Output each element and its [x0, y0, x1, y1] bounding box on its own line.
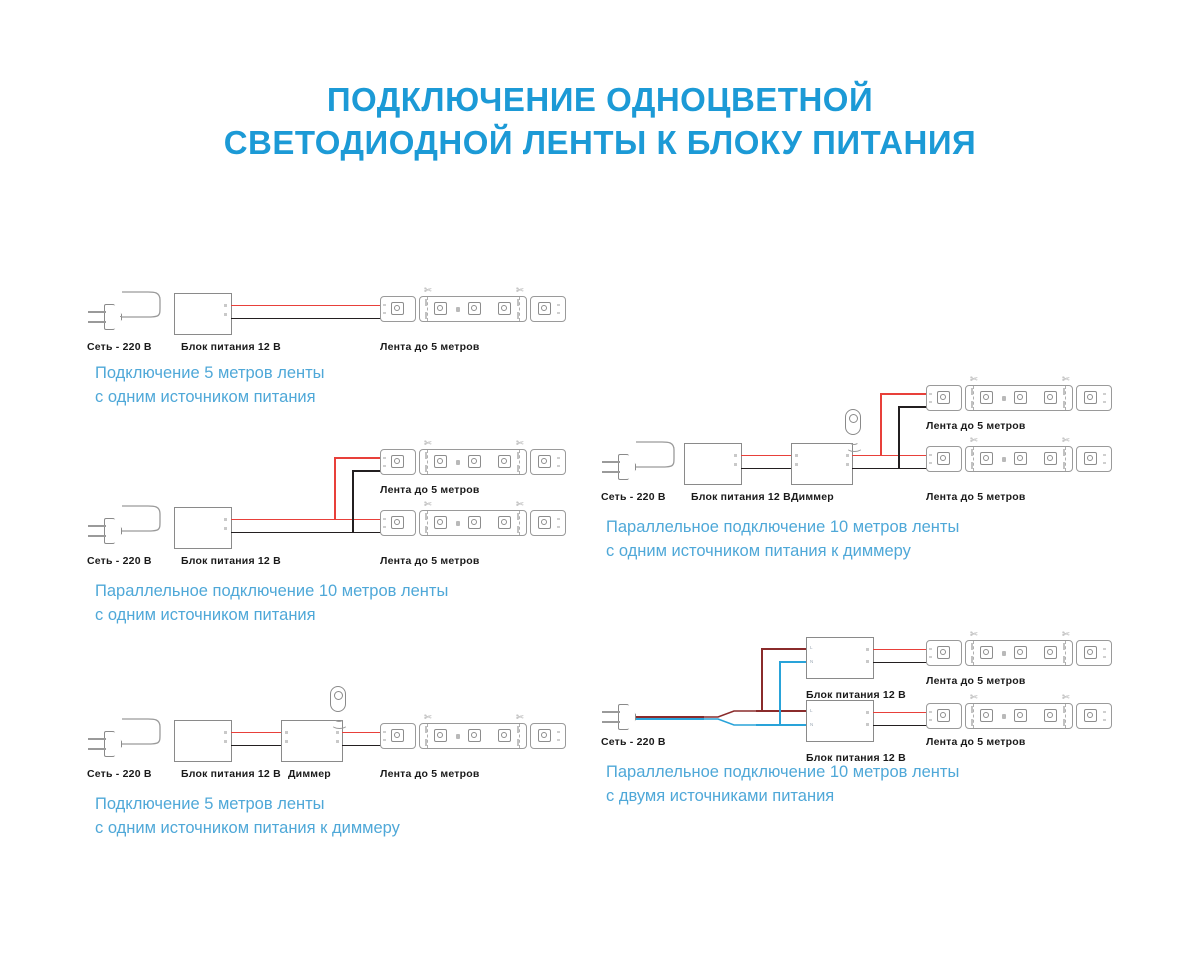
plug-pin-2	[602, 721, 620, 723]
caption-line1: Параллельное подключение 10 метров ленты	[606, 760, 959, 784]
psu-to-dimmer-negative	[741, 468, 791, 470]
led-strip	[380, 510, 566, 536]
psu-to-dimmer-positive	[231, 732, 281, 734]
mains-cable	[120, 504, 180, 549]
scissors-icon: ✄	[424, 286, 432, 295]
psu-terminal-label-n: N	[810, 659, 813, 664]
strip-solder-pad-neg	[557, 465, 560, 467]
strip-led	[1044, 452, 1057, 465]
strip-solder-pad-pos	[1103, 648, 1106, 650]
strip-solder-pad-neg	[557, 312, 560, 314]
branch-wire-positive-top	[880, 393, 932, 395]
mains-wire-h	[120, 316, 122, 317]
scissors-icon: ✄	[970, 630, 978, 639]
strip-solder-pad-pos	[929, 711, 932, 713]
output-wire-positive	[231, 519, 386, 521]
strip-led	[980, 452, 993, 465]
psu-output-pad-neg	[866, 660, 869, 663]
strip-led	[937, 452, 950, 465]
mains-cable	[120, 717, 180, 762]
strip-solder-pad-neg	[929, 462, 932, 464]
plug-pin-2	[88, 535, 106, 537]
label-mains: Сеть - 220 В	[87, 555, 152, 567]
strip-cut-line-1	[427, 450, 428, 474]
strip-solder-pad-pos	[383, 518, 386, 520]
output-wire-positive	[231, 305, 386, 307]
strip-solder-pad-neg	[383, 526, 386, 528]
strip-solder-pad-pos	[557, 731, 560, 733]
strip-led	[434, 302, 447, 315]
psu-terminal-label-n: N	[810, 722, 813, 727]
psu-to-dimmer-positive	[741, 455, 791, 457]
plug-pin-2	[602, 471, 620, 473]
branch-wire-negative	[352, 470, 354, 533]
strip-solder-pad-pos	[929, 454, 932, 456]
label-strip: Лента до 5 метров	[380, 341, 480, 353]
scissors-icon: ✄	[516, 500, 524, 509]
strip-led	[1084, 391, 1097, 404]
mains-cable	[120, 290, 180, 335]
psu-to-dimmer-negative	[231, 745, 281, 747]
scissors-icon: ✄	[424, 439, 432, 448]
psu-terminal-label-l: L	[810, 645, 813, 650]
diagram-caption: Подключение 5 метров ленты с одним источ…	[95, 361, 325, 409]
strip-led	[980, 646, 993, 659]
strip-led	[468, 455, 481, 468]
diagram-caption: Подключение 5 метров ленты с одним источ…	[95, 792, 400, 840]
led-strip	[926, 385, 1112, 411]
led-strip	[926, 703, 1112, 729]
strip-resistor	[1002, 651, 1006, 656]
strip-solder-pad-neg	[557, 739, 560, 741]
psu-terminal-pad-pos	[224, 731, 227, 734]
scissors-icon: ✄	[1062, 436, 1070, 445]
strip-cut-line-2	[519, 297, 520, 321]
plug-pin-2	[88, 321, 106, 323]
strip-led	[391, 516, 404, 529]
led-strip	[380, 296, 566, 322]
plug-pin-1	[88, 525, 106, 527]
psu-terminal-pad-pos	[224, 518, 227, 521]
strip-led	[1014, 391, 1027, 404]
strip-led	[538, 729, 551, 742]
strip-solder-pad-pos	[557, 457, 560, 459]
caption-line2: с одним источником питания к диммеру	[95, 816, 400, 840]
strip-solder-pad-pos	[557, 518, 560, 520]
dimmer-out-pad-pos	[846, 454, 849, 457]
strip-led	[391, 302, 404, 315]
psu-terminal-pad-neg	[224, 740, 227, 743]
output-wire-negative	[231, 318, 386, 320]
strip-led	[1084, 452, 1097, 465]
scissors-icon: ✄	[516, 439, 524, 448]
psu-bottom-output-negative	[873, 725, 931, 727]
branch-wire-positive	[334, 457, 336, 519]
strip-solder-pad-neg	[1103, 401, 1106, 403]
strip-led	[468, 516, 481, 529]
strip-solder-pad-pos	[1103, 454, 1106, 456]
label-power-supply: Блок питания 12 В	[691, 491, 791, 503]
label-strip-bottom: Лента до 5 метров	[926, 736, 1026, 748]
strip-solder-pad-neg	[929, 656, 932, 658]
label-mains: Сеть - 220 В	[601, 736, 666, 748]
strip-cut-line-1	[427, 297, 428, 321]
strip-led	[937, 646, 950, 659]
psu-top-output-positive	[873, 649, 931, 651]
strip-resistor	[1002, 714, 1006, 719]
scissors-icon: ✄	[970, 436, 978, 445]
mains-live-riser	[761, 648, 763, 711]
remote-signal-wave-2	[846, 442, 863, 452]
strip-led	[538, 516, 551, 529]
led-strip	[926, 446, 1112, 472]
label-strip-bottom: Лента до 5 метров	[380, 555, 480, 567]
psu-terminal-pad-pos	[734, 454, 737, 457]
scissors-icon: ✄	[1062, 693, 1070, 702]
mains-split-fork	[700, 705, 760, 735]
psu-output-pad-pos	[866, 711, 869, 714]
strip-led	[391, 729, 404, 742]
strip-led	[434, 516, 447, 529]
dimmer-out-pad-neg	[846, 463, 849, 466]
dimmer-out-pad-pos	[336, 731, 339, 734]
diagram-caption: Параллельное подключение 10 метров ленты…	[95, 579, 448, 627]
strip-cut-line-2	[1065, 641, 1066, 665]
strip-led	[1014, 452, 1027, 465]
strip-solder-pad-neg	[383, 465, 386, 467]
psu-top-output-negative	[873, 662, 931, 664]
strip-resistor	[456, 307, 460, 312]
dimmer-to-strip-positive	[852, 455, 930, 457]
power-supply-box-bottom	[806, 700, 874, 742]
psu-output-pad-pos	[866, 648, 869, 651]
mains-neutral-riser	[779, 661, 781, 725]
strip-solder-pad-neg	[1103, 462, 1106, 464]
strip-led	[498, 302, 511, 315]
strip-led	[434, 455, 447, 468]
strip-solder-pad-pos	[557, 304, 560, 306]
strip-cut-line-2	[1065, 386, 1066, 410]
strip-solder-pad-neg	[383, 739, 386, 741]
strip-solder-pad-neg	[929, 401, 932, 403]
caption-line1: Параллельное подключение 10 метров ленты	[95, 579, 448, 603]
strip-led	[1044, 646, 1057, 659]
strip-led	[538, 302, 551, 315]
output-wire-negative	[231, 532, 386, 534]
led-strip	[926, 640, 1112, 666]
strip-cut-line-2	[1065, 447, 1066, 471]
strip-solder-pad-pos	[383, 457, 386, 459]
strip-solder-pad-pos	[1103, 393, 1106, 395]
branch-wire-positive-top	[334, 457, 386, 459]
strip-led	[1084, 646, 1097, 659]
strip-resistor	[456, 521, 460, 526]
strip-led	[498, 455, 511, 468]
strip-solder-pad-neg	[929, 719, 932, 721]
diagram-caption: Параллельное подключение 10 метров ленты…	[606, 515, 959, 563]
strip-led	[468, 729, 481, 742]
psu-output-pad-neg	[866, 723, 869, 726]
psu-terminal-label-l: L	[810, 708, 813, 713]
strip-led	[498, 729, 511, 742]
strip-led	[980, 391, 993, 404]
remote-button	[849, 414, 858, 423]
strip-cut-line-1	[973, 704, 974, 728]
caption-line2: с одним источником питания	[95, 603, 448, 627]
strip-led	[1044, 391, 1057, 404]
label-mains: Сеть - 220 В	[87, 768, 152, 780]
plug-body	[618, 704, 636, 730]
label-strip: Лента до 5 метров	[380, 768, 480, 780]
strip-led	[538, 455, 551, 468]
plug-pin-1	[602, 461, 620, 463]
branch-wire-positive	[880, 393, 882, 455]
strip-led	[391, 455, 404, 468]
remote-signal-wave-2	[331, 719, 348, 729]
dimmer-in-pad-pos	[285, 731, 288, 734]
strip-led	[434, 729, 447, 742]
remote-button	[334, 691, 343, 700]
label-power-supply: Блок питания 12 В	[181, 341, 281, 353]
strip-solder-pad-neg	[1103, 719, 1106, 721]
strip-resistor	[1002, 457, 1006, 462]
psu-terminal-pad-neg	[224, 313, 227, 316]
label-strip-top: Лента до 5 метров	[380, 484, 480, 496]
label-strip-top: Лента до 5 метров	[926, 420, 1026, 432]
psu-bottom-output-positive	[873, 712, 931, 714]
strip-led	[468, 302, 481, 315]
scissors-icon: ✄	[516, 713, 524, 722]
remote-control-icon	[327, 686, 349, 730]
remote-control-icon	[842, 409, 864, 453]
plug-pin-1	[88, 311, 106, 313]
strip-solder-pad-neg	[383, 312, 386, 314]
psu-terminal-pad-neg	[224, 527, 227, 530]
strip-led	[1044, 709, 1057, 722]
strip-led	[937, 709, 950, 722]
mains-wire-neutral	[636, 718, 704, 720]
scissors-icon: ✄	[1062, 630, 1070, 639]
branch-wire-negative	[898, 406, 900, 469]
psu-terminal-pad-neg	[734, 463, 737, 466]
caption-line2: с одним источником питания	[95, 385, 325, 409]
caption-line1: Подключение 5 метров ленты	[95, 792, 400, 816]
label-power-supply: Блок питания 12 В	[181, 768, 281, 780]
dimmer-out-pad-neg	[336, 740, 339, 743]
strip-led	[1014, 709, 1027, 722]
strip-led	[1014, 646, 1027, 659]
dimmer-in-pad-neg	[795, 463, 798, 466]
caption-line2: с двумя источниками питания	[606, 784, 959, 808]
strip-solder-pad-neg	[557, 526, 560, 528]
label-mains: Сеть - 220 В	[87, 341, 152, 353]
diagram-caption: Параллельное подключение 10 метров ленты…	[606, 760, 959, 808]
label-strip-top: Лента до 5 метров	[926, 675, 1026, 687]
plug-pin-1	[88, 738, 106, 740]
plug-pin-2	[88, 748, 106, 750]
strip-cut-line-1	[427, 511, 428, 535]
strip-cut-line-2	[519, 450, 520, 474]
strip-solder-pad-pos	[929, 393, 932, 395]
label-strip-bottom: Лента до 5 метров	[926, 491, 1026, 503]
strip-solder-pad-pos	[929, 648, 932, 650]
dimmer-in-pad-pos	[795, 454, 798, 457]
scissors-icon: ✄	[424, 713, 432, 722]
label-mains: Сеть - 220 В	[601, 491, 666, 503]
strip-led	[980, 709, 993, 722]
strip-cut-line-1	[973, 641, 974, 665]
strip-cut-line-1	[973, 447, 974, 471]
led-strip	[380, 449, 566, 475]
strip-led	[937, 391, 950, 404]
label-power-supply: Блок питания 12 В	[181, 555, 281, 567]
scissors-icon: ✄	[424, 500, 432, 509]
caption-line2: с одним источником питания к диммеру	[606, 539, 959, 563]
dimmer-in-pad-neg	[285, 740, 288, 743]
strip-solder-pad-pos	[383, 731, 386, 733]
label-dimmer: Диммер	[288, 768, 331, 780]
strip-led	[498, 516, 511, 529]
scissors-icon: ✄	[516, 286, 524, 295]
plug-pin-1	[602, 711, 620, 713]
psu-terminal-pad-pos	[224, 304, 227, 307]
strip-cut-line-1	[973, 386, 974, 410]
strip-led	[1084, 709, 1097, 722]
diagram-parallel-10m-two-psu: L N ✄ ✄ Лента до 5 метров Блок питания 1…	[0, 0, 1200, 250]
caption-line1: Подключение 5 метров ленты	[95, 361, 325, 385]
dimmer-to-strip-negative	[852, 468, 930, 470]
strip-cut-line-2	[519, 511, 520, 535]
scissors-icon: ✄	[970, 693, 978, 702]
scissors-icon: ✄	[970, 375, 978, 384]
label-dimmer: Диммер	[791, 491, 834, 503]
strip-resistor	[456, 734, 460, 739]
caption-line1: Параллельное подключение 10 метров ленты	[606, 515, 959, 539]
strip-solder-pad-pos	[1103, 711, 1106, 713]
strip-cut-line-2	[519, 724, 520, 748]
power-supply-box-top	[806, 637, 874, 679]
strip-resistor	[1002, 396, 1006, 401]
scissors-icon: ✄	[1062, 375, 1070, 384]
strip-cut-line-2	[1065, 704, 1066, 728]
strip-cut-line-1	[427, 724, 428, 748]
led-strip	[380, 723, 566, 749]
strip-solder-pad-neg	[1103, 656, 1106, 658]
strip-resistor	[456, 460, 460, 465]
strip-solder-pad-pos	[383, 304, 386, 306]
